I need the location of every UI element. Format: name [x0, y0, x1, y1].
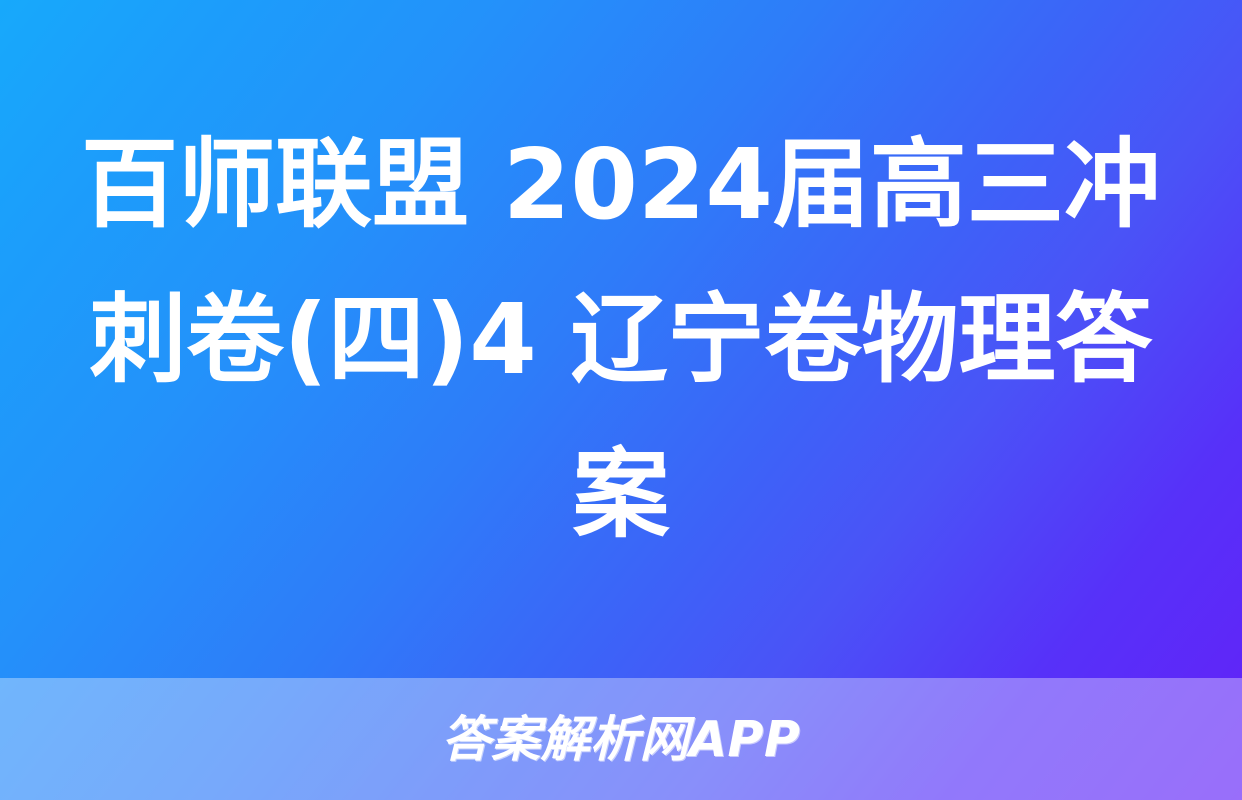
page-title: 百师联盟 2024届高三冲刺卷(四)4 辽宁卷物理答案	[80, 107, 1162, 572]
poster-canvas: 百师联盟 2024届高三冲刺卷(四)4 辽宁卷物理答案 答案解析网APP	[0, 0, 1242, 800]
poster-title-block: 百师联盟 2024届高三冲刺卷(四)4 辽宁卷物理答案	[0, 0, 1242, 678]
app-watermark-label: 答案解析网APP	[442, 715, 801, 764]
watermark-band: 答案解析网APP	[0, 678, 1242, 800]
